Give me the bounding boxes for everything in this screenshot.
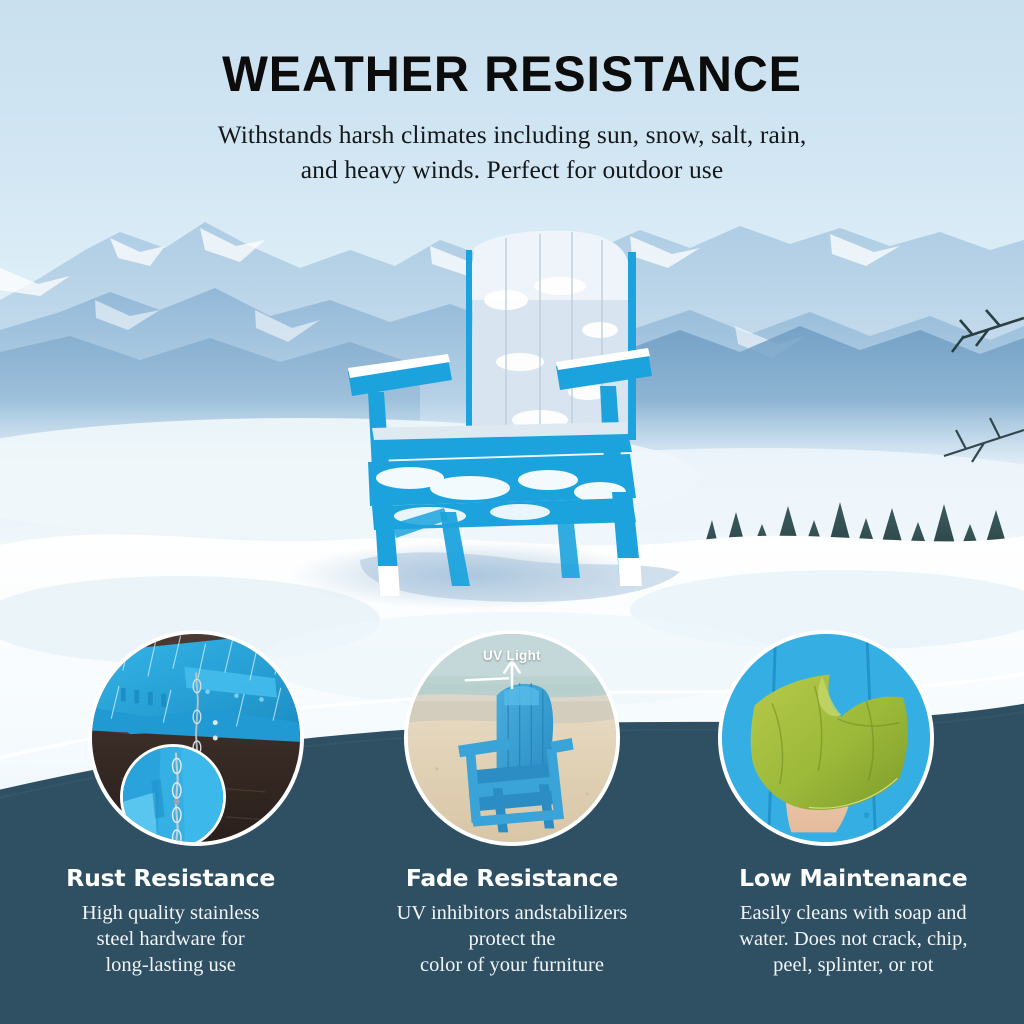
- feature-title-low-maintenance: Low Maintenance: [697, 864, 1010, 892]
- feature-image-low-maintenance: [718, 630, 934, 846]
- feature-image-fade-resistance: UV Light: [404, 630, 620, 846]
- rust-resistance-detail-inset: [120, 744, 226, 846]
- feature-desc-line: protect the: [355, 927, 668, 953]
- feature-desc-line: peel, splinter, or rot: [697, 953, 1010, 979]
- feature-low-maintenance: Low Maintenance Easily cleans with soap …: [683, 864, 1024, 978]
- feature-desc-line: long-lasting use: [14, 953, 327, 979]
- feature-desc-low-maintenance: Easily cleans with soap and water. Does …: [697, 901, 1010, 978]
- page-subtitle: Withstands harsh climates including sun,…: [162, 117, 862, 187]
- header-block: WEATHER RESISTANCE Withstands harsh clim…: [0, 48, 1024, 187]
- feature-desc-line: UV inhibitors andstabilizers: [355, 901, 668, 927]
- feature-desc-rust-resistance: High quality stainless steel hardware fo…: [14, 901, 327, 978]
- feature-rust-resistance: Rust Resistance High quality stainless s…: [0, 864, 341, 978]
- feature-title-fade-resistance: Fade Resistance: [355, 864, 668, 892]
- chain-closeup-photo: [123, 747, 223, 846]
- feature-captions: Rust Resistance High quality stainless s…: [0, 864, 1024, 978]
- subtitle-line-1: Withstands harsh climates including sun,…: [162, 117, 862, 152]
- subtitle-line-2: and heavy winds. Perfect for outdoor use: [162, 152, 862, 187]
- low-maintenance-photo: [722, 634, 930, 842]
- weather-resistance-infographic: WEATHER RESISTANCE Withstands harsh clim…: [0, 0, 1024, 1024]
- uv-light-label: UV Light: [408, 648, 616, 663]
- feature-desc-line: High quality stainless: [14, 901, 327, 927]
- feature-fade-resistance: Fade Resistance UV inhibitors andstabili…: [341, 864, 682, 978]
- feature-desc-line: steel hardware for: [14, 927, 327, 953]
- page-title: WEATHER RESISTANCE: [15, 48, 1008, 101]
- feature-title-rust-resistance: Rust Resistance: [14, 864, 327, 892]
- feature-desc-fade-resistance: UV inhibitors andstabilizers protect the…: [355, 901, 668, 978]
- feature-desc-line: water. Does not crack, chip,: [697, 927, 1010, 953]
- feature-desc-line: color of your furniture: [355, 953, 668, 979]
- feature-desc-line: Easily cleans with soap and: [697, 901, 1010, 927]
- fade-resistance-photo: [408, 634, 616, 842]
- feature-image-rust-resistance: [88, 630, 304, 846]
